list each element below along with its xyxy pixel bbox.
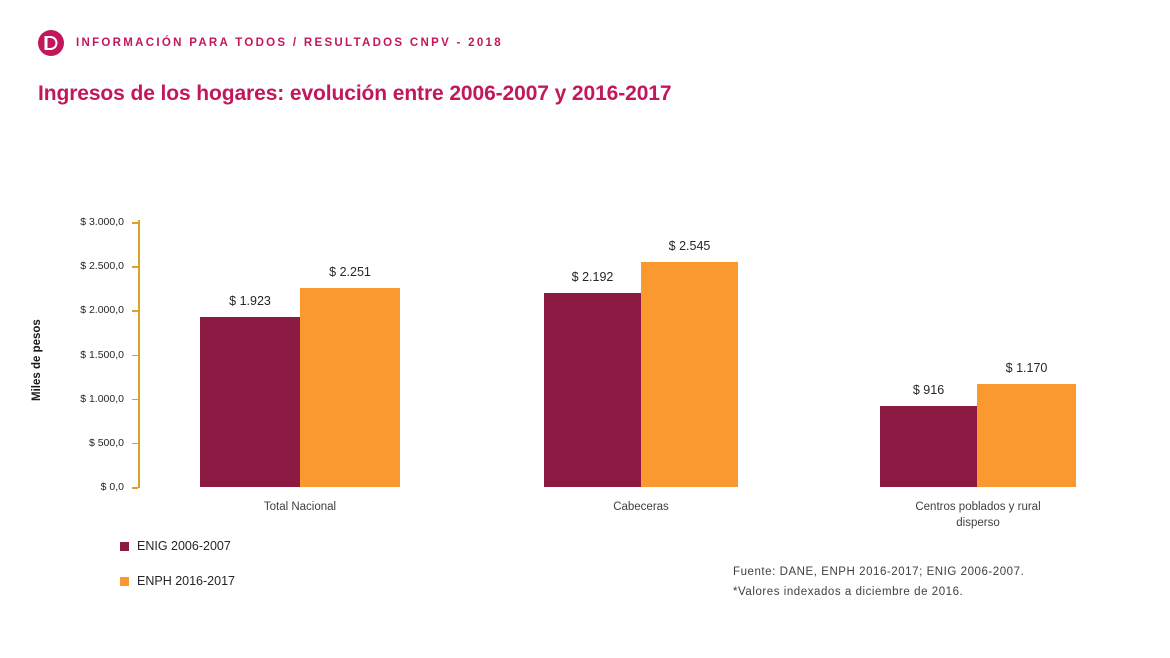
source-line-2: *Valores indexados a diciembre de 2016.: [733, 582, 1024, 602]
y-axis-line: [138, 220, 140, 488]
bar-enph[interactable]: [977, 384, 1076, 487]
bar-enph[interactable]: [300, 288, 400, 487]
bar-enph[interactable]: [641, 262, 738, 487]
bar-enig[interactable]: [200, 317, 300, 487]
legend-label: ENPH 2016-2017: [137, 574, 235, 588]
source-note: Fuente: DANE, ENPH 2016-2017; ENIG 2006-…: [733, 562, 1024, 602]
bar-value-label: $ 1.170: [1006, 361, 1048, 375]
y-tick-mark: [132, 399, 138, 401]
y-tick-mark: [132, 487, 138, 489]
category-label: Total Nacional: [190, 499, 410, 515]
legend-item[interactable]: ENIG 2006-2007: [120, 533, 235, 559]
bar-chart: Miles de pesos $ 3.000,0$ 2.500,0$ 2.000…: [0, 0, 1170, 658]
legend-label: ENIG 2006-2007: [137, 539, 231, 553]
bar-value-label: $ 2.545: [669, 239, 711, 253]
bar-enig[interactable]: [880, 406, 977, 487]
y-tick-label: $ 500,0: [44, 437, 124, 449]
legend-swatch-icon: [120, 577, 129, 586]
bar-value-label: $ 916: [913, 383, 944, 397]
source-line-1: Fuente: DANE, ENPH 2016-2017; ENIG 2006-…: [733, 562, 1024, 582]
bar-enig[interactable]: [544, 293, 641, 487]
legend-item[interactable]: ENPH 2016-2017: [120, 568, 235, 594]
chart-legend: ENIG 2006-2007ENPH 2016-2017: [120, 533, 235, 603]
y-tick-mark: [132, 222, 138, 224]
y-tick-label: $ 2.500,0: [44, 260, 124, 272]
y-tick-label: $ 2.000,0: [44, 304, 124, 316]
category-label: Centros poblados y rural disperso: [868, 499, 1088, 531]
y-tick-mark: [132, 443, 138, 445]
y-tick-mark: [132, 310, 138, 312]
y-tick-mark: [132, 355, 138, 357]
y-tick-label: $ 3.000,0: [44, 216, 124, 228]
y-tick-mark: [132, 266, 138, 268]
bar-value-label: $ 2.192: [572, 270, 614, 284]
y-tick-label: $ 1.500,0: [44, 349, 124, 361]
y-tick-label: $ 0,0: [44, 481, 124, 493]
bar-value-label: $ 1.923: [229, 294, 271, 308]
y-tick-label: $ 1.000,0: [44, 393, 124, 405]
category-label: Cabeceras: [531, 499, 751, 515]
bar-value-label: $ 2.251: [329, 265, 371, 279]
legend-swatch-icon: [120, 542, 129, 551]
